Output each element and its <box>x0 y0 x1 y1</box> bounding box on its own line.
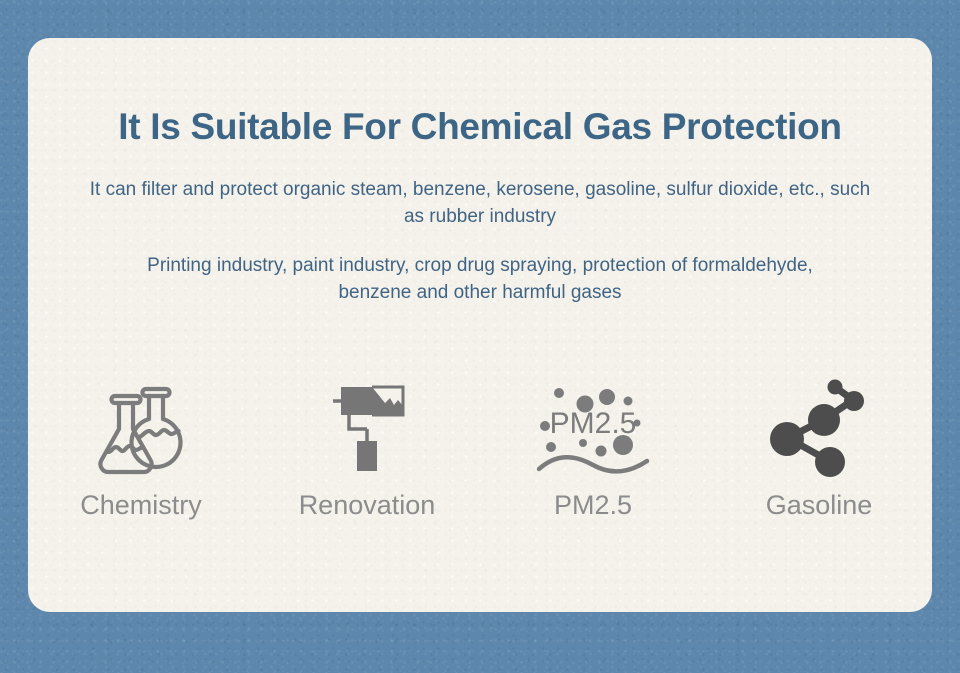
pm25-particles-icon: PM2.5 <box>529 368 657 486</box>
feature-item-gasoline: Gasoline <box>706 368 932 519</box>
feature-list: Chemistry Reno <box>28 368 932 519</box>
feature-item-renovation: Renovation <box>254 368 480 519</box>
feature-label-renovation: Renovation <box>299 492 436 519</box>
chemistry-flasks-icon <box>85 368 197 486</box>
description-paragraph-2: Printing industry, paint industry, crop … <box>120 253 840 307</box>
pm25-icon-text: PM2.5 <box>550 407 637 440</box>
feature-item-chemistry: Chemistry <box>28 368 254 519</box>
description-paragraph-1: It can filter and protect organic steam,… <box>85 177 875 231</box>
feature-label-chemistry: Chemistry <box>80 492 202 519</box>
molecule-icon <box>763 368 875 486</box>
content-card: It Is Suitable For Chemical Gas Protecti… <box>28 38 932 612</box>
page-title: It Is Suitable For Chemical Gas Protecti… <box>28 107 932 148</box>
feature-label-gasoline: Gasoline <box>766 492 873 519</box>
paint-roller-icon <box>311 368 423 486</box>
feature-item-pm25: PM2.5 PM2.5 <box>480 368 706 519</box>
feature-label-pm25: PM2.5 <box>554 492 632 519</box>
